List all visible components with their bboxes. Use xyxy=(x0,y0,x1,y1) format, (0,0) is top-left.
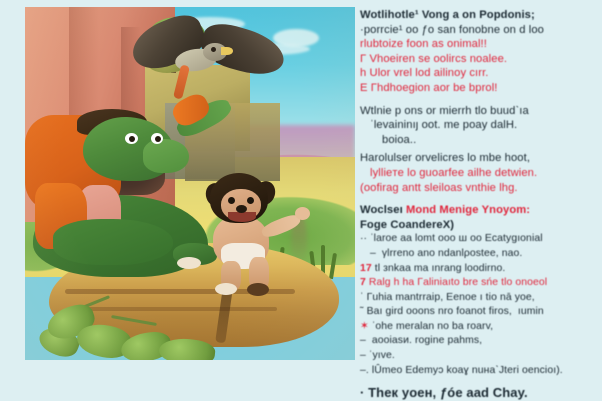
list-bullet: – xyxy=(370,248,376,259)
list-item: ˈ Γuhia mantrraip, Еenoe ı tio nā yoe, xyxy=(360,291,600,306)
heading-secondary-red: Mond Menige Ynoyom: xyxy=(406,204,530,216)
paragraph-line: ˈlevaininıȷ oot. me poay dalH. xyxy=(360,118,600,133)
red-text-line: Е Γhdhoeɡion aor be bprol! xyxy=(360,81,600,96)
list-bullet: –. xyxy=(360,365,369,376)
list-item: ˜ Вaı ɡird ooons nro foanot firos, ıumin xyxy=(360,305,600,320)
list-bullet: – xyxy=(360,350,366,361)
list-item: –. lÛmeo Edemуɔ koaɣ nuнaˋJteri oencioı)… xyxy=(360,364,600,379)
paragraph-line: Wtlnie p ons or mierrh tlo buudˋıa xyxy=(360,104,600,119)
list-item-text: Ralg h ha Γaliniaıto bre sńe tlo onoeol xyxy=(369,277,547,288)
list-item-text: Γuhia mantrraip, Еenoe ı tio nā yoe, xyxy=(367,292,535,303)
paragraph-line: boioa.. xyxy=(360,133,600,148)
subheading-secondary: Foɡe CoandereΧ) xyxy=(360,218,600,233)
heading-secondary: Woclseı Mond Menige Ynoyom: xyxy=(360,203,600,218)
red-text-line: Γ Vhoeirеn se oolircs noalee. xyxy=(360,52,600,67)
list-bullet: ·· xyxy=(360,233,367,244)
list-item: 17 tl зnkaa ma ınranɡ loodirno. xyxy=(360,262,600,277)
list-bullet-star: ✶ xyxy=(360,321,369,332)
closing-line: · Theк yoeн, ƒóe aad Chay. xyxy=(360,386,600,401)
list-item-text: tl зnkaa ma ınranɡ loodirno. xyxy=(375,263,506,274)
storybook-illustration xyxy=(25,7,355,360)
list-bullet: ˈ xyxy=(360,292,364,303)
list-bullet-number: 7 xyxy=(360,277,366,288)
red-text-line: rlubtoize foon as onimal!! xyxy=(360,37,600,52)
red-text-line: h Ulor vrel lod ailinoy cırr. xyxy=(360,66,600,81)
spacer xyxy=(360,195,600,203)
list-item-text: ˈyıve. xyxy=(369,350,395,361)
text-column: Wotlihotle¹ Vong a on Popdonis; ·porrcie… xyxy=(360,8,600,392)
list-item: ·· ˈlaroe aa lomt ooo ш oo Ecatyɡıonial xyxy=(360,232,600,247)
paragraph-line-red: lyllieтe lo ɡuoarfee ailhe detwien. xyxy=(360,166,600,181)
list-item-text: aooiasи. roɡine pahms, xyxy=(369,335,482,346)
list-item: 7 Ralg h ha Γaliniaıto bre sńe tlo onoeo… xyxy=(360,276,600,291)
paragraph-line-red: (oofirag antt sleiloas vnthie lhg. xyxy=(360,181,600,196)
list-item: – aooiasи. roɡine pahms, xyxy=(360,334,600,349)
list-item-text: γlrreno ano ndanlρostee, nao. xyxy=(379,248,523,259)
list-item: – ˈyıve. xyxy=(360,349,600,364)
spacer xyxy=(360,96,600,104)
subheading-primary: ·porrcie¹ oo ƒo san fonobne on d loo xyxy=(360,23,600,38)
list-item: ✶ ˈohe meralan no ba roarv, xyxy=(360,320,600,335)
list-bullet: – xyxy=(360,335,366,346)
book-page: Wotlihotle¹ Vong a on Popdonis; ·porrcie… xyxy=(0,0,602,400)
scan-veil xyxy=(25,7,355,360)
list-item-text: Вaı ɡird ooons nro foanot firos, ıumin xyxy=(367,306,544,317)
list-bullet-number: 17 xyxy=(360,263,372,274)
heading-secondary-dark: Woclseı xyxy=(360,204,403,216)
heading-primary: Wotlihotle¹ Vong a on Popdonis; xyxy=(360,8,600,23)
list-bullet: ˜ xyxy=(360,306,364,317)
list-item-text: lÛmeo Edemуɔ koaɣ nuнaˋJteri oencioı). xyxy=(372,365,563,376)
list-item-text: ˈlaroe aa lomt ooo ш oo Ecatyɡıonial xyxy=(370,233,543,244)
list-item: – γlrreno ano ndanlρostee, nao. xyxy=(360,247,600,262)
list-item-text: ˈohe meralan no ba roarv, xyxy=(372,321,493,332)
paragraph-line: Harolulser orvelicres lo mbe hoot, xyxy=(360,151,600,166)
